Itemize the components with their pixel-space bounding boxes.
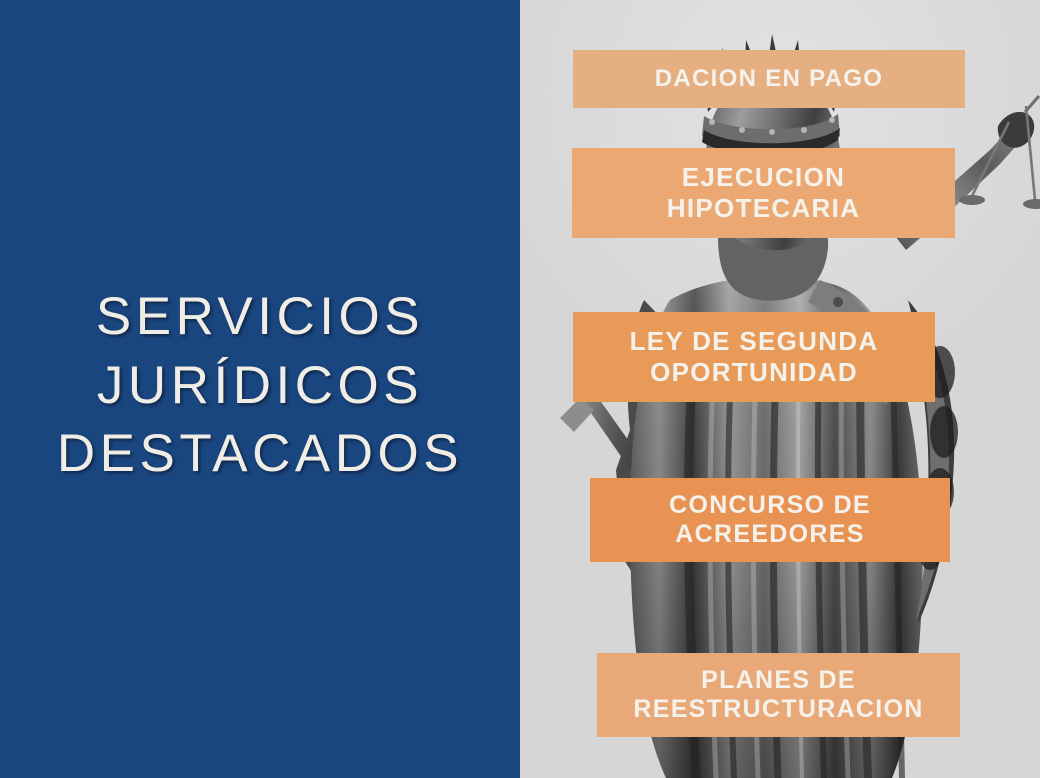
service-banner-ejecucion-hipotecaria[interactable]: EJECUCION HIPOTECARIA bbox=[572, 148, 955, 238]
service-banner-label: PLANES DE REESTRUCTURACION bbox=[633, 666, 923, 725]
service-banner-label: LEY DE SEGUNDA OPORTUNIDAD bbox=[630, 326, 879, 387]
service-banner-planes-de-reestructuracion[interactable]: PLANES DE REESTRUCTURACION bbox=[597, 653, 960, 737]
service-banner-label: EJECUCION HIPOTECARIA bbox=[667, 162, 860, 223]
page-title: SERVICIOS JURÍDICOS DESTACADOS bbox=[30, 283, 490, 490]
service-banner-ley-de-segunda-oportunidad[interactable]: LEY DE SEGUNDA OPORTUNIDAD bbox=[573, 312, 935, 402]
service-banner-label: CONCURSO DE ACREEDORES bbox=[669, 491, 871, 550]
slide-canvas: SERVICIOS JURÍDICOS DESTACADOS bbox=[0, 0, 1040, 778]
service-banner-label: DACION EN PAGO bbox=[655, 65, 883, 93]
service-banner-concurso-de-acreedores[interactable]: CONCURSO DE ACREEDORES bbox=[590, 478, 950, 562]
title-panel: SERVICIOS JURÍDICOS DESTACADOS bbox=[0, 0, 520, 778]
service-banner-dacion-en-pago[interactable]: DACION EN PAGO bbox=[573, 50, 965, 108]
